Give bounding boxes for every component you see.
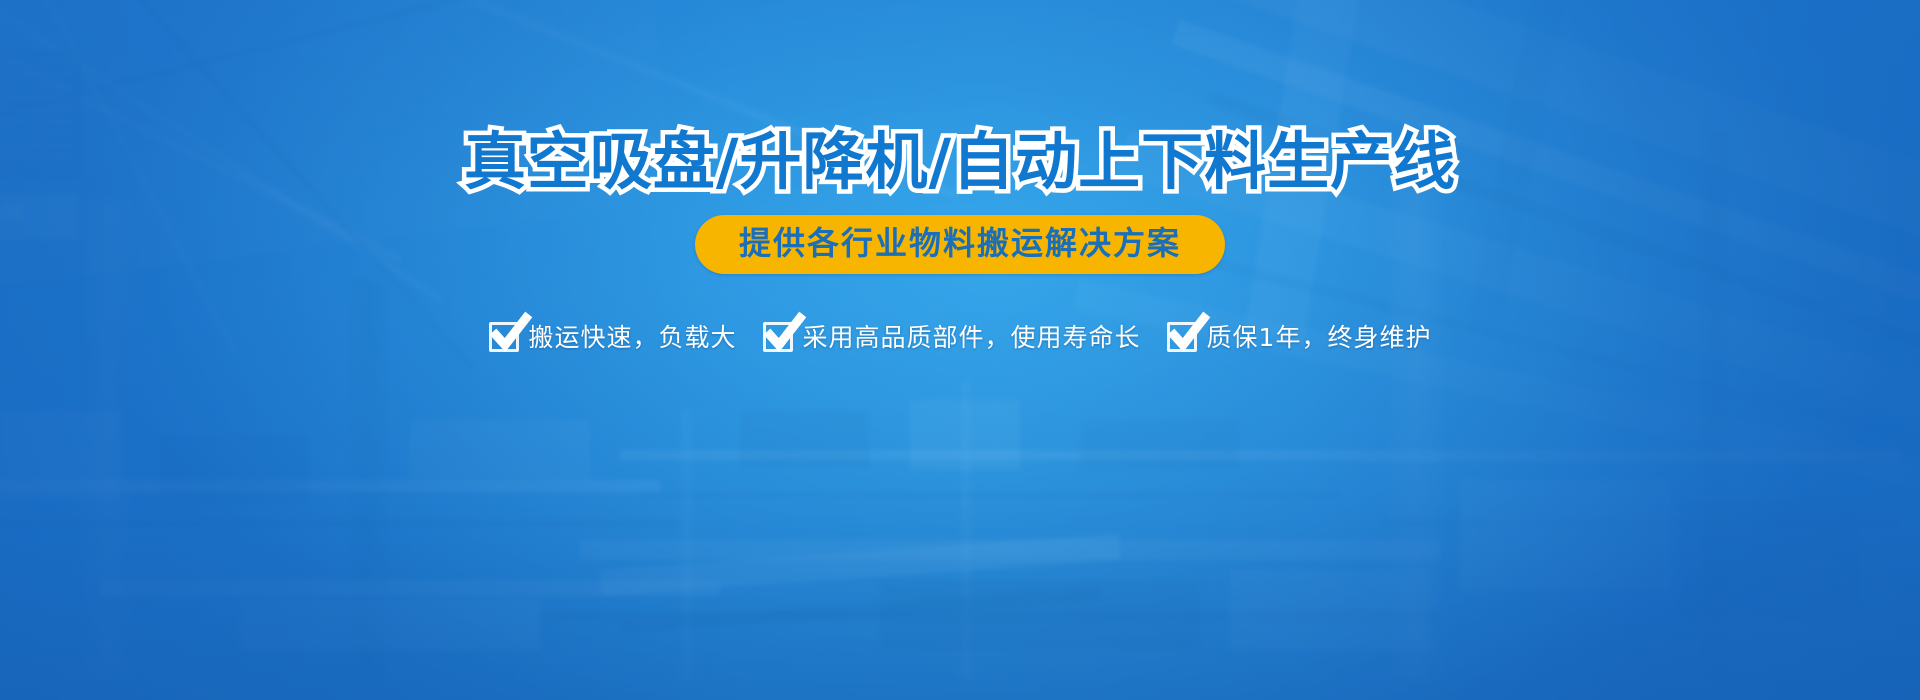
check-mark-glyph <box>1166 314 1208 356</box>
check-box-icon <box>489 319 523 353</box>
feature-item: 质保1年，终身维护 <box>1167 318 1432 354</box>
subtitle-pill: 提供各行业物料搬运解决方案 <box>695 215 1225 274</box>
banner-content: 真空吸盘/升降机/自动上下料生产线 提供各行业物料搬运解决方案 搬运快速，负载大 <box>0 0 1920 700</box>
check-box-icon <box>1167 319 1201 353</box>
check-mark-glyph <box>488 314 530 356</box>
feature-label: 采用高品质部件，使用寿命长 <box>803 318 1141 354</box>
feature-label: 搬运快速，负载大 <box>529 318 737 354</box>
page-title: 真空吸盘/升降机/自动上下料生产线 <box>464 131 1456 193</box>
feature-list: 搬运快速，负载大 采用高品质部件，使用寿命长 质保1 <box>489 318 1432 354</box>
feature-item: 搬运快速，负载大 <box>489 318 737 354</box>
feature-label: 质保1年，终身维护 <box>1207 318 1432 354</box>
check-mark-glyph <box>762 314 804 356</box>
check-box-icon <box>763 319 797 353</box>
promo-banner: BA06 <box>0 0 1920 700</box>
feature-item: 采用高品质部件，使用寿命长 <box>763 318 1141 354</box>
